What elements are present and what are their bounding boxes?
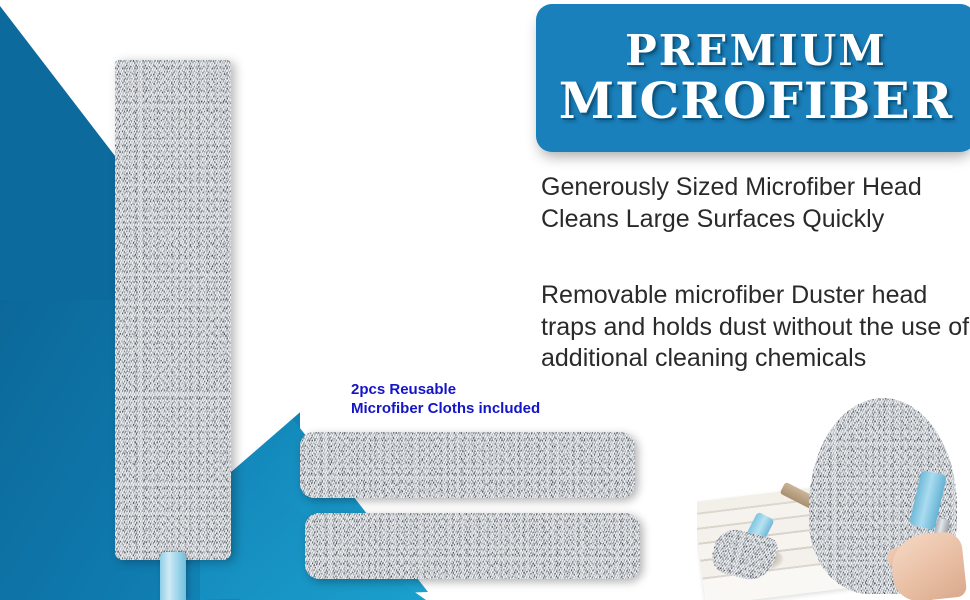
microfiber-duster-head (115, 60, 231, 560)
feature-text-head-size: Generously Sized Microfiber Head Cleans … (541, 172, 970, 235)
premium-microfiber-banner: PREMIUM MICROFIBER (536, 4, 970, 152)
spare-microfiber-cloth-2 (305, 513, 640, 579)
banner-title-line-1: PREMIUM (625, 30, 887, 73)
cloths-included-callout: 2pcs Reusable Microfiber Cloths included (351, 380, 540, 418)
feature-text-removable-head: Removable microfiber Duster head traps a… (541, 280, 970, 375)
banner-title-line-2: MICROFIBER (559, 75, 953, 126)
product-poster: 2pcs Reusable Microfiber Cloths included… (0, 0, 970, 600)
duster-handle (160, 552, 186, 600)
spare-microfiber-cloth-1 (300, 432, 635, 498)
in-use-photo (697, 396, 970, 600)
callout-line-1: 2pcs Reusable (351, 380, 540, 399)
callout-line-2: Microfiber Cloths included (351, 399, 540, 418)
